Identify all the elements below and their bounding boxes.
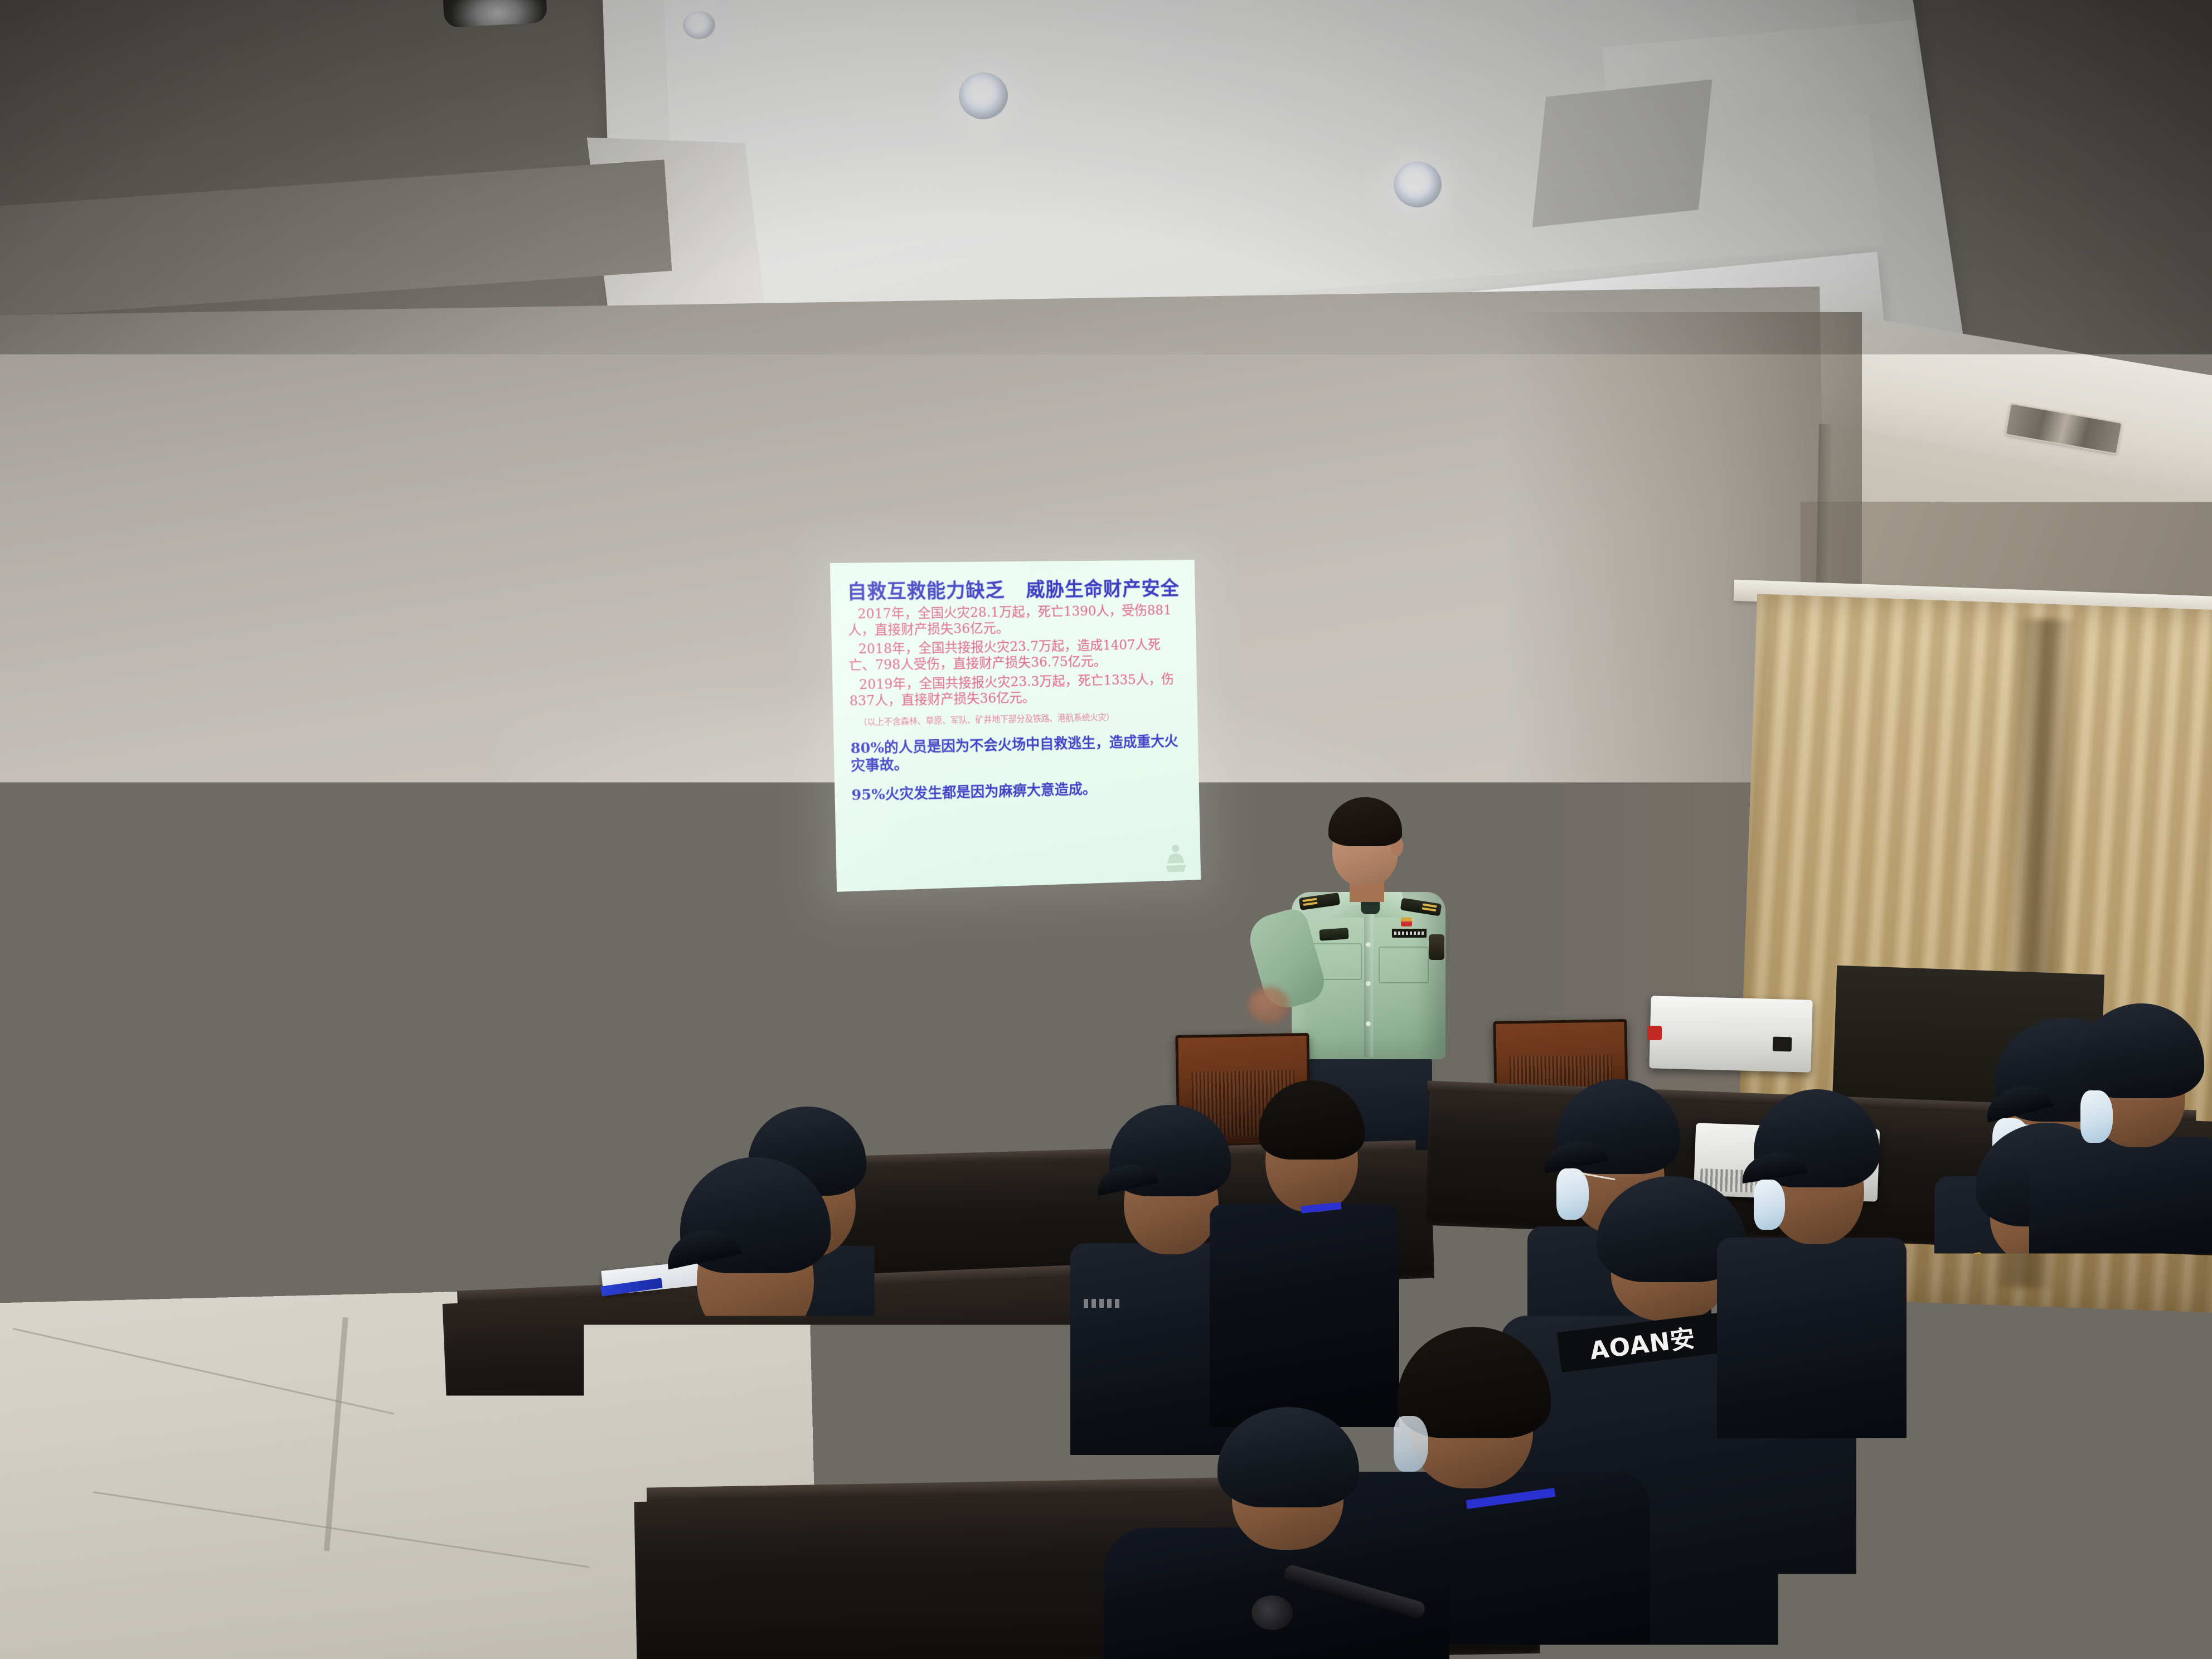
audience-right-guard-c <box>2029 970 2212 1260</box>
ceiling-downlight-1 <box>959 72 1008 119</box>
audience-front-left-guard: 值勤 <box>591 1104 903 1659</box>
presenter-chest-emblem-icon <box>1319 928 1348 941</box>
civilian-face-mask <box>385 1442 446 1520</box>
slide-stat-2019: 2019年，全国共接报火灾23.3万起，死亡1335人，伤837人，直接财产损失… <box>849 671 1183 710</box>
presenter-nameplate <box>1392 929 1427 938</box>
ceiling-wall-seam <box>0 159 672 319</box>
presenter-button-1 <box>1366 942 1371 947</box>
meeting-room-photo: 自救互救能力缺乏 威胁生命财产安全 2017年，全国火灾28.1万起，死亡139… <box>0 0 2212 1659</box>
slide-content: 自救互救能力缺乏 威胁生命财产安全 2017年，全国火灾28.1万起，死亡139… <box>830 560 1201 892</box>
bottle-neck <box>808 1465 833 1485</box>
bottle-cap[interactable] <box>805 1438 836 1467</box>
projection-screen: 自救互救能力缺乏 威胁生命财产安全 2017年，全国火灾28.1万起，死亡139… <box>830 560 1201 892</box>
slide-stat-2018: 2018年，全国共接报火灾23.7万起，造成1407人死亡、798人受伤，直接财… <box>848 637 1183 674</box>
ceiling-notch <box>1532 79 1713 227</box>
case-red-marker-icon <box>1647 1026 1662 1040</box>
water-bottle[interactable]: 农夫山泉 NONGFU SPRING <box>794 1438 847 1639</box>
guard-jacket <box>2029 1137 2212 1260</box>
presenter-flag-badge-icon <box>1401 918 1412 926</box>
bottle-mountain-icon <box>813 1548 831 1564</box>
guard-face-mask <box>1556 1168 1589 1220</box>
presenter-hair <box>1328 797 1402 846</box>
slide-title: 自救互救能力缺乏 威胁生命财产安全 <box>847 579 1181 604</box>
presenter-button-3 <box>1366 1021 1371 1026</box>
ceiling-dark-fixture-icon <box>442 0 547 28</box>
presenter-shoulder-patch-icon <box>1429 934 1444 960</box>
guard-jacket <box>1851 1265 2208 1659</box>
guard-armband: 值勤 <box>591 1413 674 1526</box>
slide-stat-2017: 2017年，全国火灾28.1万起，死亡1390人，受伤881人，直接财产损失36… <box>847 602 1182 639</box>
bottle-brand-name-en: NONGFU SPRING <box>799 1595 843 1605</box>
bottle-label-lower: 农夫山泉 NONGFU SPRING <box>799 1573 843 1613</box>
audience-front-civilian <box>22 1182 524 1659</box>
slide-highlight-95: 95%火灾发生都是因为麻痹大意造成。 <box>851 779 1186 804</box>
guard-cap <box>2078 1003 2204 1098</box>
slide-watermark-icon <box>1161 841 1190 874</box>
bottle-brand-name: 农夫山泉 <box>803 1582 839 1594</box>
civilian-ear <box>366 1369 395 1423</box>
ceiling-downlight-2 <box>1394 162 1442 207</box>
guard-shoulder-stripe <box>1084 1299 1123 1308</box>
slide-footnote: （以上不含森林、草原、军队、矿井地下部分及铁路、港航系统火灾） <box>850 709 1184 728</box>
slide-highlight-80: 80%的人员是因为不会火场中自救逃生，造成重大火灾事故。 <box>850 733 1185 775</box>
ceiling-downlight-5 <box>683 11 715 39</box>
presenter-button-2 <box>1366 981 1371 986</box>
guard-face-mask <box>1754 1180 1785 1230</box>
presenter-pocket-right <box>1379 947 1429 983</box>
microphone-head-icon <box>1251 1595 1293 1630</box>
guard-hair <box>1259 1080 1365 1160</box>
guard-face-mask <box>2080 1090 2113 1143</box>
presenter-hand-motionblur <box>1248 987 1289 1023</box>
bottle-water-level <box>801 1498 842 1543</box>
